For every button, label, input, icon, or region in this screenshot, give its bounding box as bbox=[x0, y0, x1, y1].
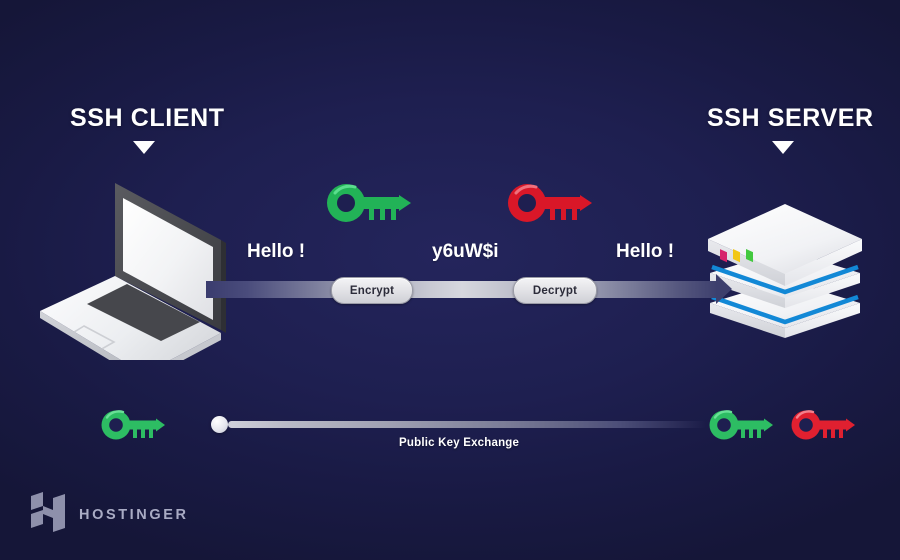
green-key-icon-top bbox=[325, 181, 417, 230]
hostinger-h-logo bbox=[30, 492, 66, 537]
brand-name: HOSTINGER bbox=[79, 507, 189, 523]
encrypted-channel-bar bbox=[206, 281, 718, 298]
public-key-exchange-label: Public Key Exchange bbox=[399, 437, 519, 449]
brand-lockup: HOSTINGER bbox=[30, 492, 189, 537]
plaintext-in-label: Hello ! bbox=[616, 241, 674, 263]
white-dot-marker bbox=[211, 416, 228, 433]
plaintext-out-label: Hello ! bbox=[247, 241, 305, 263]
caret-down-icon-server bbox=[772, 141, 794, 154]
ciphertext-label: y6uW$i bbox=[432, 241, 499, 263]
encrypt-pill[interactable]: Encrypt bbox=[331, 277, 413, 304]
laptop-icon bbox=[30, 178, 242, 365]
caret-down-icon-client bbox=[133, 141, 155, 154]
red-key-icon-top bbox=[506, 181, 598, 230]
diagram-canvas: SSH CLIENT SSH SERVER bbox=[0, 0, 900, 560]
channel-arrow-icon bbox=[716, 274, 732, 304]
public-key-exchange-line bbox=[228, 421, 706, 428]
server-title: SSH SERVER bbox=[707, 104, 874, 133]
client-title: SSH CLIENT bbox=[70, 104, 225, 133]
green-key-icon-server-exchange bbox=[708, 408, 780, 447]
decrypt-pill[interactable]: Decrypt bbox=[513, 277, 597, 304]
green-key-icon-client-exchange bbox=[100, 408, 172, 447]
red-key-icon-server-exchange bbox=[790, 408, 862, 447]
server-stack-icon bbox=[700, 192, 870, 345]
